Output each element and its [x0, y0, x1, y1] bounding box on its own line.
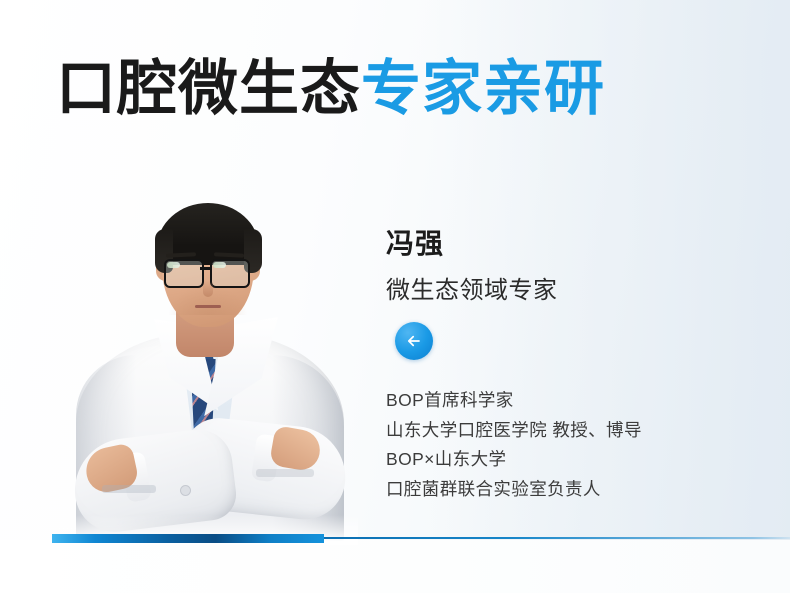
expert-profile-banner: 口腔微生态专家亲研: [0, 0, 790, 593]
lens-glare-left: [167, 262, 180, 268]
expert-subtitle: 微生态领域专家: [386, 270, 558, 305]
accent-line: [324, 537, 790, 539]
page-title: 口腔微生态专家亲研: [56, 52, 605, 126]
background-bottom-strip: [0, 540, 790, 593]
arrow-left-button[interactable]: [395, 322, 433, 360]
lens-glare-right: [213, 262, 226, 268]
coat-pocket-right: [256, 469, 314, 477]
page-title-accent-part: 专家亲研: [361, 55, 605, 122]
credential-line: 口腔菌群联合实验室负责人: [386, 475, 642, 505]
coat-button: [180, 485, 191, 496]
credential-line: BOP首席科学家: [386, 386, 642, 416]
expert-name: 冯强: [386, 222, 444, 262]
credential-line: 山东大学口腔医学院 教授、博导: [386, 416, 642, 446]
arrow-left-icon: [404, 331, 424, 351]
coat-pocket-left: [102, 485, 156, 493]
credential-line: BOP×山东大学: [386, 445, 642, 475]
eyeglasses-bridge: [200, 267, 212, 270]
accent-bar: [52, 534, 324, 543]
nose: [203, 281, 213, 297]
page-title-dark-part: 口腔微生态: [56, 55, 361, 122]
expert-credentials: BOP首席科学家 山东大学口腔医学院 教授、博导 BOP×山东大学 口腔菌群联合…: [386, 386, 642, 504]
mouth: [195, 305, 221, 308]
expert-portrait-photo: [58, 185, 358, 543]
